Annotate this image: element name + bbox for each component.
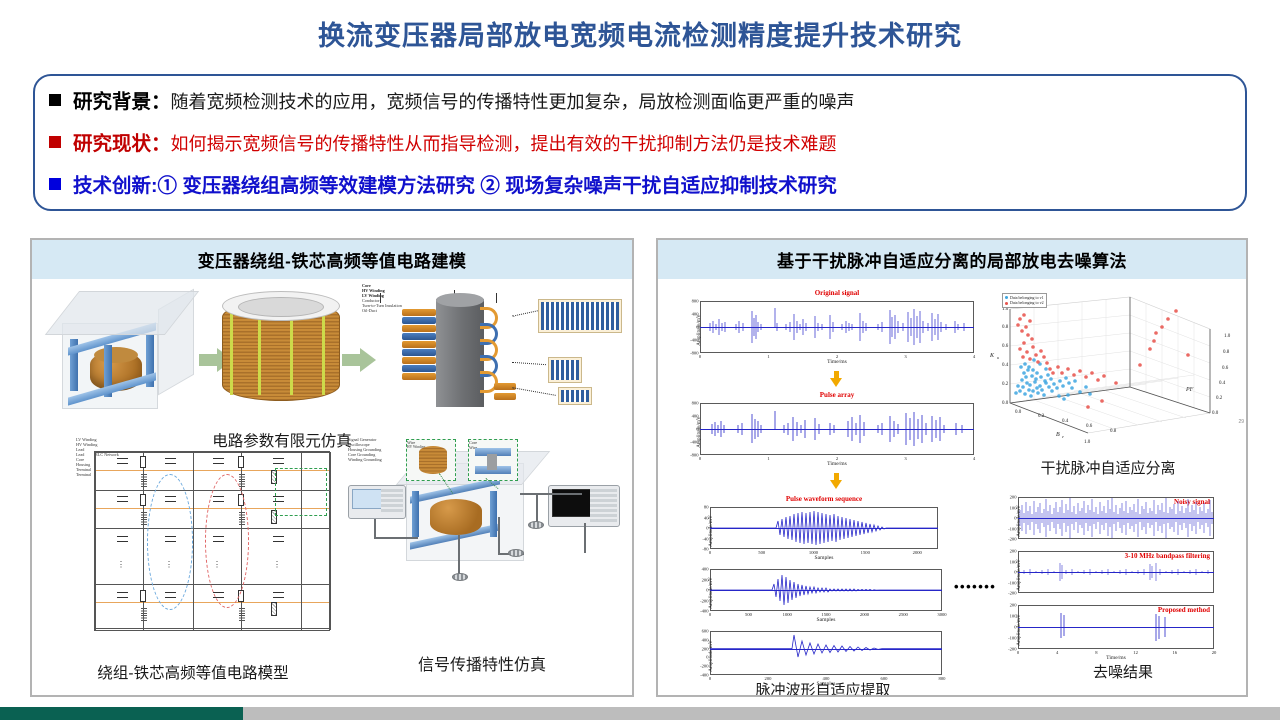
- y-tick: 400: [692, 414, 699, 419]
- panel-right-header: 基于干扰脉冲自适应分离的局部放电去噪算法: [658, 240, 1246, 279]
- y-tick: 0: [706, 588, 708, 593]
- svg-text:0.2: 0.2: [1216, 396, 1223, 401]
- svg-text:1.0: 1.0: [1084, 440, 1091, 445]
- summary-line-background: 研究背景： 随着宽频检测技术的应用，宽频信号的传播特性更加复杂，局放检测面临更严…: [49, 85, 1231, 127]
- svg-text:0.8: 0.8: [1002, 325, 1009, 330]
- square-bullet-icon: [49, 178, 61, 190]
- y-tick: 400: [702, 567, 709, 572]
- caption-signal-propagation: 信号传播特性仿真: [342, 651, 622, 675]
- chart-legend: Data belonging to v1 Data belonging to v…: [1002, 293, 1047, 308]
- y-tick: 400: [702, 637, 709, 642]
- svg-text:0.8: 0.8: [1223, 350, 1230, 355]
- svg-text:0.6: 0.6: [1086, 424, 1093, 429]
- flow-arrow-icon: [830, 480, 842, 489]
- y-tick: 600: [702, 629, 709, 634]
- legend-dot-icon: [1005, 302, 1008, 305]
- y-tick: 200: [1010, 549, 1017, 554]
- chart-original-signal: Original signal Amplitude/mV 800 400 0 -…: [700, 301, 974, 353]
- y-tick: -100: [1008, 580, 1016, 585]
- chart-title: Pulse array: [700, 391, 974, 399]
- chart-interference-separation-3d: 0.00.2 0.40.6 0.81.0 0.00.2 0.40.6 0.81.…: [980, 291, 1232, 451]
- svg-text:1.0: 1.0: [1224, 334, 1231, 339]
- svg-text:PF: PF: [1185, 387, 1194, 393]
- svg-text:0.4: 0.4: [1219, 381, 1226, 386]
- chart-bandpass-filtering: 3-10 MHz bandpass filtering Amplitude/mV…: [1018, 551, 1214, 593]
- y-tick: 80: [704, 505, 709, 510]
- legend-item: Data belonging to v2: [1005, 300, 1044, 305]
- y-tick: 100: [1010, 614, 1017, 619]
- winding-cylinder-figure: [218, 287, 346, 417]
- y-tick: -40: [702, 536, 708, 541]
- svg-text:0.6: 0.6: [1002, 344, 1009, 349]
- y-tick: -200: [700, 664, 708, 669]
- y-tick: 100: [1010, 559, 1017, 564]
- y-tick: 200: [1010, 603, 1017, 608]
- y-tick: 0: [696, 427, 698, 432]
- y-tick: -200: [1008, 647, 1016, 652]
- legend-label: Data belonging to v2: [1010, 300, 1044, 305]
- y-tick: -400: [700, 673, 708, 678]
- chart-pulse-waveform-2: Amplitude/mV 400 200 0 -200 -400 0 500 1…: [710, 569, 942, 611]
- svg-text:u: u: [997, 355, 999, 360]
- y-tick: 0: [1014, 570, 1016, 575]
- panel-left-body: Core HV Winding LV Winding: [32, 279, 632, 695]
- summary-line-innovation: 技术创新: ① 变压器绕组高频等效建模方法研究 ② 现场复杂噪声干扰自适应抑制技…: [49, 169, 1231, 211]
- y-tick: -800: [690, 351, 698, 356]
- footer-accent-bar: [0, 707, 243, 720]
- y-tick: -200: [700, 598, 708, 603]
- caption-circuit-model: 绕组-铁芯高频等值电路模型: [50, 661, 336, 683]
- core-winding-detail-figure: Core HV Winding LV Winding: [362, 283, 627, 428]
- y-tick: 200: [702, 577, 709, 582]
- svg-text:0.0: 0.0: [1015, 410, 1022, 415]
- summary-label-status: 研究现状：: [73, 127, 171, 156]
- y-tick: 800: [692, 401, 699, 406]
- y-tick: 0: [1014, 516, 1016, 521]
- signal-propagation-setup-figure: Signal Generator Oscilloscope Wire HV W: [348, 437, 633, 642]
- svg-text:0.2: 0.2: [1038, 414, 1045, 419]
- x-axis-label: Samples: [710, 555, 938, 561]
- y-tick: 800: [692, 299, 699, 304]
- panel-denoising-algorithm: 基于干扰脉冲自适应分离的局部放电去噪算法 Original signal Amp…: [656, 238, 1248, 697]
- caption-interference-separation: 干扰脉冲自适应分离: [998, 457, 1218, 478]
- legend-dot-icon: [1005, 296, 1008, 299]
- svg-text:0.0: 0.0: [1002, 401, 1009, 406]
- x-axis-label: Samples: [710, 617, 942, 623]
- svg-text:0.6: 0.6: [1222, 366, 1229, 371]
- y-tick: -100: [1008, 636, 1016, 641]
- chart-proposed-method: Proposed method Amplitude/mV 200 100 0 -…: [1018, 605, 1214, 649]
- svg-text:e: e: [1062, 434, 1064, 439]
- summary-label-background: 研究背景：: [73, 85, 171, 114]
- svg-text:B: B: [1056, 432, 1060, 438]
- square-bullet-icon: [49, 136, 61, 148]
- y-tick: -400: [690, 338, 698, 343]
- y-tick: 0: [706, 526, 708, 531]
- chart-title: Original signal: [700, 289, 974, 297]
- y-tick: 200: [1010, 495, 1017, 500]
- panel-transformer-modeling: 变压器绕组-铁芯高频等值电路建模: [30, 238, 634, 697]
- y-tick: -80: [702, 547, 708, 552]
- chart-pulse-waveform-3: Amplitude/mV 600 400 200 0 -200 -400 0 2…: [710, 631, 942, 675]
- summary-box: 研究背景： 随着宽频检测技术的应用，宽频信号的传播特性更加复杂，局放检测面临更严…: [33, 74, 1247, 211]
- summary-text-status: 如何揭示宽频信号的传播特性从而指导检测，提出有效的干扰抑制方法仍是技术难题: [171, 130, 837, 156]
- summary-text-innovation: ① 变压器绕组高频等效建模方法研究 ② 现场复杂噪声干扰自适应抑制技术研究: [158, 169, 837, 198]
- svg-text:0.4: 0.4: [1062, 419, 1069, 424]
- y-tick: 0: [696, 325, 698, 330]
- caption-denoising-result: 去噪结果: [1038, 661, 1208, 682]
- page-title: 换流变压器局部放电宽频电流检测精度提升技术研究: [0, 14, 1280, 53]
- footer-bar: [243, 707, 1280, 720]
- y-tick: 40: [704, 515, 709, 520]
- y-tick: -100: [1008, 526, 1016, 531]
- summary-line-status: 研究现状： 如何揭示宽频信号的传播特性从而指导检测，提出有效的干扰抑制方法仍是技…: [49, 127, 1231, 169]
- svg-text:0.4: 0.4: [1002, 363, 1009, 368]
- ellipsis-dots: •••••••: [954, 579, 996, 594]
- x-axis-label: Time/ms: [700, 359, 974, 365]
- summary-label-innovation: 技术创新:: [73, 169, 158, 198]
- chart-pulse-array: Pulse array Amplitude/mV 800 400 0 -400 …: [700, 403, 974, 455]
- chart-title: Pulse waveform sequence: [710, 495, 938, 503]
- y-tick: 400: [692, 312, 699, 317]
- y-tick: 100: [1010, 505, 1017, 510]
- panel-left-header: 变压器绕组-铁芯高频等值电路建模: [32, 240, 632, 279]
- panel-right-body: Original signal Amplitude/mV 800 400 0 -…: [658, 279, 1246, 695]
- y-tick: -400: [700, 609, 708, 614]
- y-tick: 200: [702, 646, 709, 651]
- flow-arrow-icon: [830, 378, 842, 387]
- equivalent-circuit-figure: LV Winding HV Winding Lead Lead Core Hou…: [76, 437, 338, 647]
- slide-number: 29: [1238, 419, 1244, 425]
- summary-text-background: 随着宽频检测技术的应用，宽频信号的传播特性更加复杂，局放检测面临更严重的噪声: [171, 88, 855, 114]
- x-axis-label: Time/ms: [700, 461, 974, 467]
- y-tick: -800: [690, 453, 698, 458]
- chart-noisy-signal: Noisy signal Amplitude/mV 200 100 0 -100…: [1018, 497, 1214, 539]
- y-tick: 0: [1014, 625, 1016, 630]
- svg-text:0.8: 0.8: [1110, 429, 1117, 434]
- caption-pulse-extraction: 脉冲波形自适应提取: [698, 679, 948, 697]
- y-tick: -400: [690, 440, 698, 445]
- chart-pulse-waveform-1: Pulse waveform sequence Amplitude/mV 80 …: [710, 507, 938, 549]
- svg-text:0.2: 0.2: [1002, 382, 1009, 387]
- transformer-tank-3d-figure: [54, 289, 204, 424]
- svg-text:K: K: [989, 353, 995, 359]
- y-tick: 0: [706, 655, 708, 660]
- svg-text:0.0: 0.0: [1212, 411, 1219, 416]
- square-bullet-icon: [49, 94, 61, 106]
